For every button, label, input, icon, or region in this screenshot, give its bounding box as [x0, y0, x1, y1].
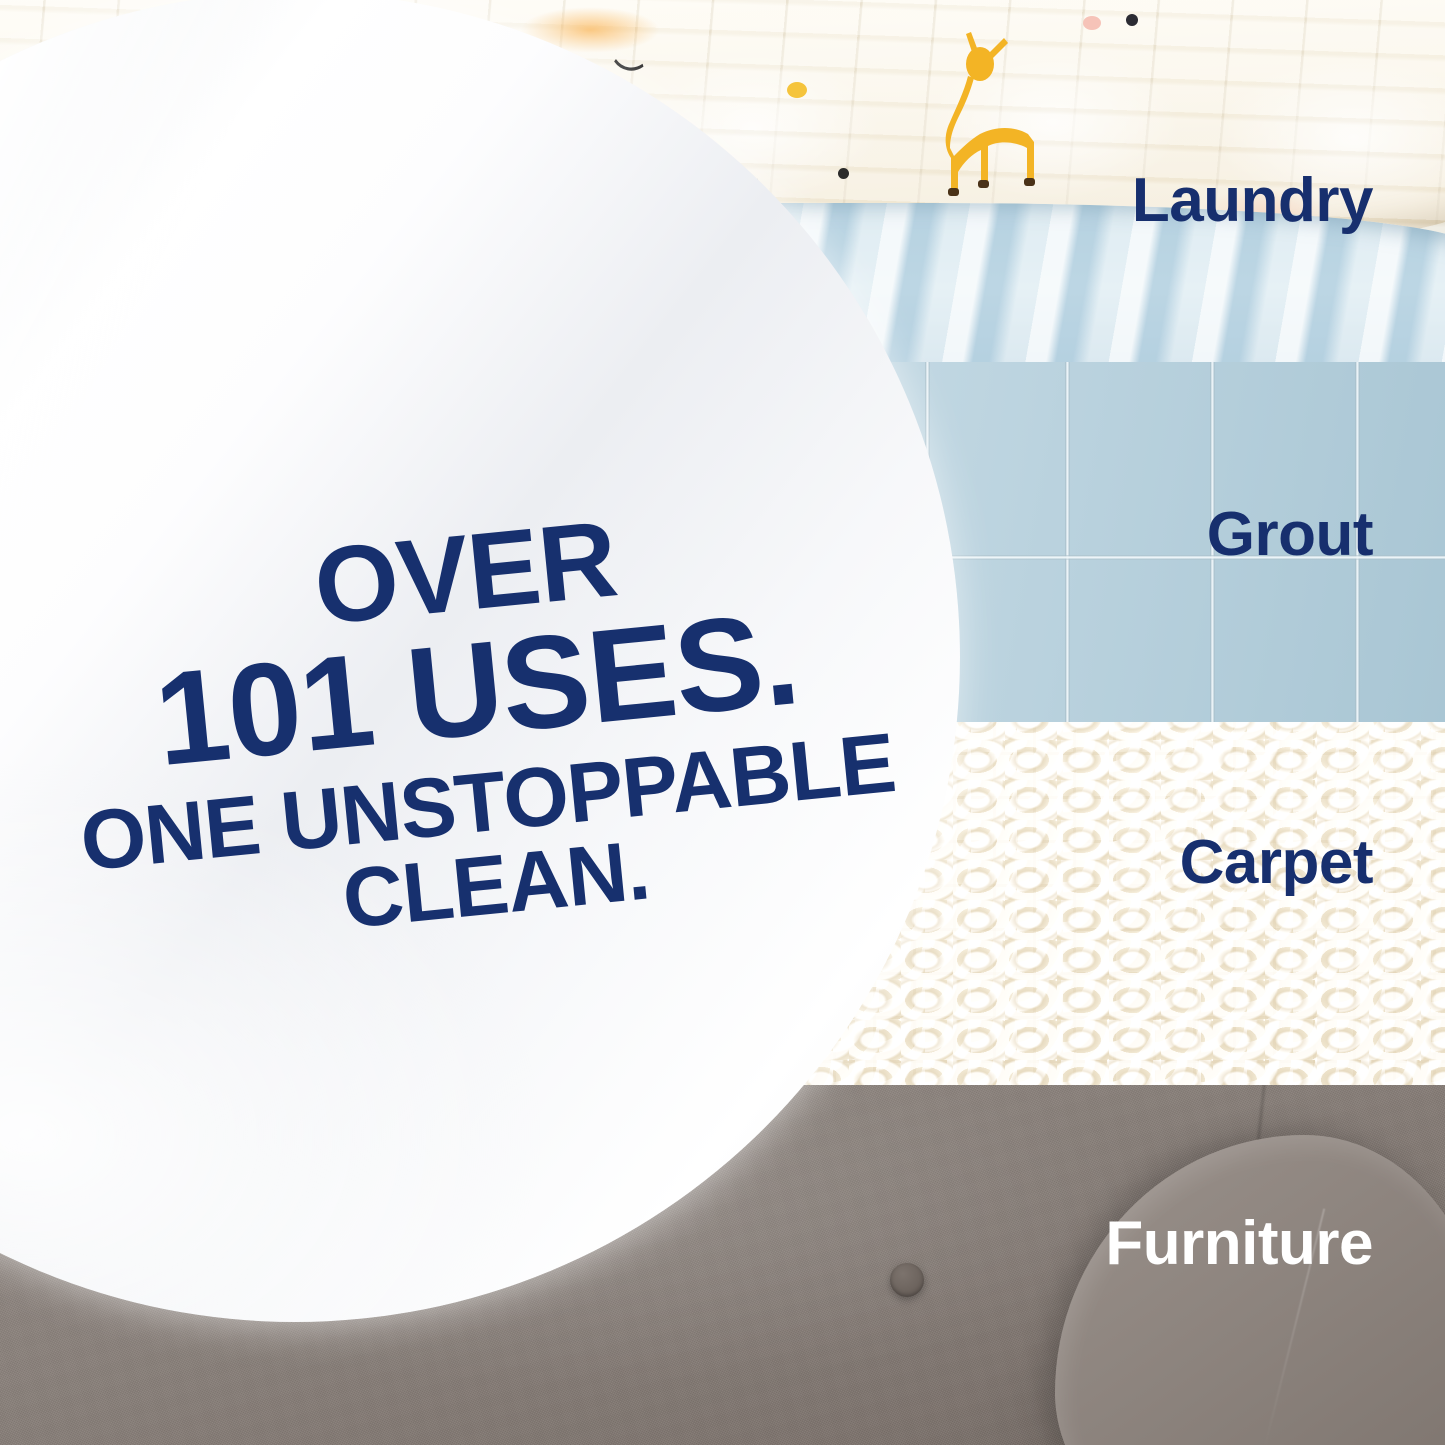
grout-line-vertical: [1065, 362, 1070, 722]
doodle-dot-yellow: [787, 82, 807, 98]
doodle-eye-b: [1126, 14, 1138, 26]
hero-headline: OVER 101 USES. ONE UNSTOPPABLE CLEAN.: [42, 480, 918, 966]
doodle-dot-pink: [1083, 16, 1101, 30]
panel-label-laundry: Laundry: [1132, 170, 1373, 232]
panel-label-carpet: Carpet: [1180, 832, 1373, 894]
upholstery-button-icon: [890, 1263, 924, 1297]
doodle-eye-a: [838, 168, 849, 179]
panel-label-grout: Grout: [1207, 504, 1373, 566]
product-feature-image: ︶ ︶ Laundry Grout: [0, 0, 1445, 1445]
panel-label-furniture: Furniture: [1105, 1213, 1373, 1275]
